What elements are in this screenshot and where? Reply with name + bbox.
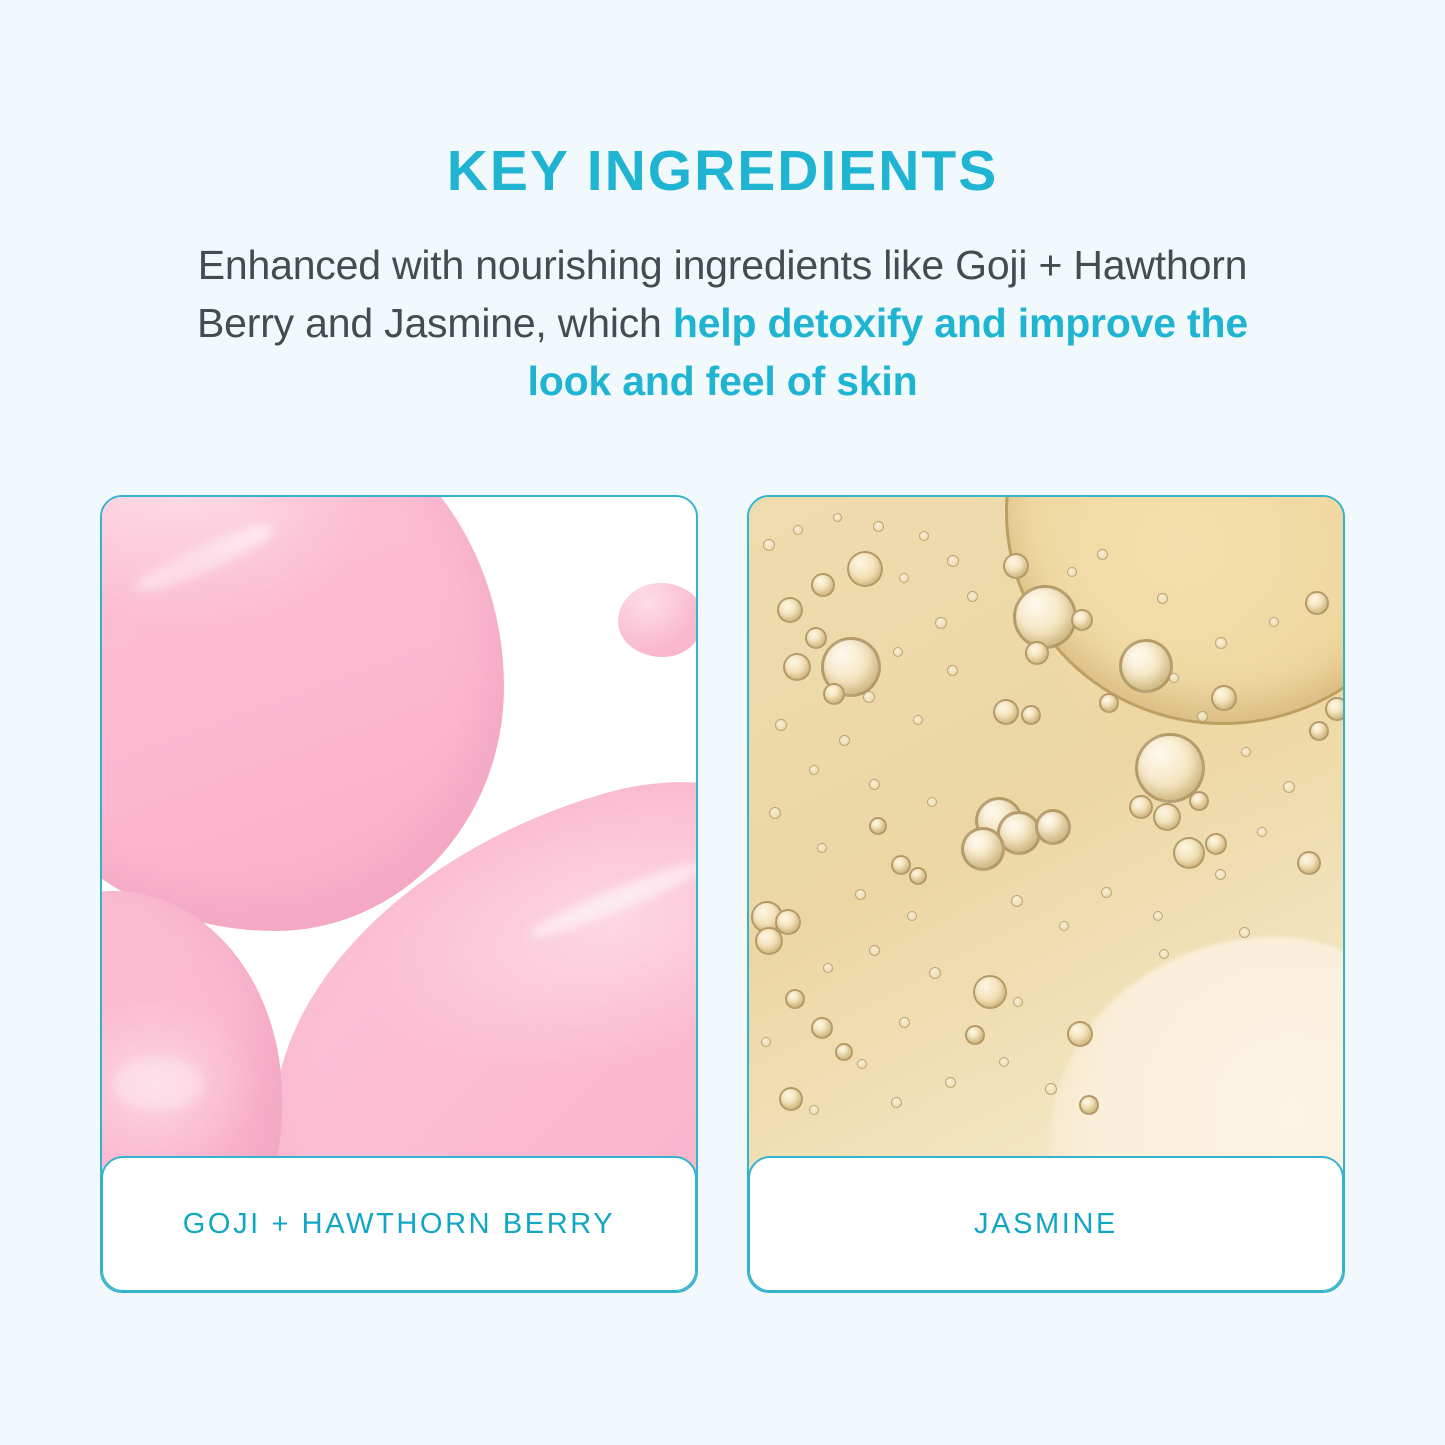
oil-bubble (769, 807, 781, 819)
oil-bubble (919, 531, 929, 541)
oil-bubble (775, 719, 787, 731)
oil-bubble (1239, 927, 1250, 938)
oil-bubble (899, 1017, 910, 1028)
oil-bubble (1159, 949, 1169, 959)
oil-bubble (847, 551, 883, 587)
oil-bubble (993, 699, 1019, 725)
oil-bubble (869, 945, 880, 956)
oil-bubble (761, 1037, 771, 1047)
oil-bubble (1129, 795, 1153, 819)
oil-bubble (1059, 921, 1069, 931)
oil-bubble (1011, 895, 1023, 907)
oil-bubble (1215, 869, 1226, 880)
oil-bubble (835, 1043, 853, 1061)
oil-bubble (857, 1059, 867, 1069)
oil-bubble (913, 715, 923, 725)
oil-bubble (823, 963, 833, 973)
oil-bubble (1099, 693, 1119, 713)
oil-bubble (1021, 705, 1041, 725)
oil-bubble (755, 927, 783, 955)
ingredient-card-jasmine[interactable]: JASMINE (747, 495, 1345, 1293)
oil-bubble (833, 513, 842, 522)
oil-bubble (999, 1057, 1009, 1067)
oil-bubble (1211, 685, 1237, 711)
oil-bubble (1241, 747, 1251, 757)
oil-bubble (1101, 887, 1112, 898)
card-label-text: JASMINE (974, 1208, 1118, 1241)
oil-bubble (1035, 809, 1071, 845)
oil-bubble (809, 1105, 819, 1115)
oil-bubble (1067, 1021, 1093, 1047)
pink-blob-small-top-right (618, 583, 696, 657)
oil-bubble (973, 975, 1007, 1009)
oil-bubble (961, 827, 1005, 871)
oil-bubble (1205, 833, 1227, 855)
pink-blob-sheen-bottom-left (112, 1057, 204, 1111)
oil-bubble (1189, 791, 1209, 811)
oil-bubble (1119, 639, 1173, 693)
ingredient-card-row: GOJI + HAWTHORN BERRY (100, 495, 1345, 1295)
oil-bubble (909, 867, 927, 885)
oil-bubble (947, 665, 958, 676)
key-ingredients-infographic: KEY INGREDIENTS Enhanced with nourishing… (0, 0, 1445, 1445)
oil-bubble (1025, 641, 1049, 665)
oil-bubble (899, 573, 909, 583)
oil-bubble (873, 521, 884, 532)
oil-bubble (1013, 585, 1077, 649)
oil-bubble (1045, 1083, 1057, 1095)
oil-bubble (1215, 637, 1227, 649)
oil-bubble (817, 843, 827, 853)
oil-bubble (1013, 997, 1023, 1007)
oil-bubble (1153, 911, 1163, 921)
ingredient-card-goji-hawthorn-berry[interactable]: GOJI + HAWTHORN BERRY (100, 495, 698, 1293)
oil-bubble (965, 1025, 985, 1045)
oil-bubble (1309, 721, 1329, 741)
card-label-text: GOJI + HAWTHORN BERRY (183, 1208, 615, 1241)
oil-bubble (809, 765, 819, 775)
oil-bubble (823, 683, 845, 705)
page-title: KEY INGREDIENTS (0, 0, 1445, 200)
oil-bubble (811, 1017, 833, 1039)
oil-bubble (1325, 697, 1343, 721)
oil-bubble (785, 989, 805, 1009)
header: KEY INGREDIENTS Enhanced with nourishing… (0, 0, 1445, 411)
oil-bubble (763, 539, 775, 551)
oil-bubble (1067, 567, 1077, 577)
oil-bubble (811, 573, 835, 597)
oil-bubble (947, 555, 959, 567)
oil-bubble (779, 1087, 803, 1111)
oil-bubble (1097, 549, 1108, 560)
oil-bubble (793, 525, 803, 535)
oil-bubble (863, 691, 875, 703)
oil-bubble (929, 967, 941, 979)
pink-blob-speckle-band (102, 497, 262, 657)
card-label-plate-jasmine: JASMINE (748, 1156, 1344, 1292)
oil-bubble (1197, 711, 1208, 722)
oil-bubble (1157, 593, 1168, 604)
oil-bubble (1257, 827, 1267, 837)
oil-bubble (783, 653, 811, 681)
oil-bubble (1283, 781, 1295, 793)
oil-bubble (967, 591, 978, 602)
oil-bubble (1297, 851, 1321, 875)
oil-bubble (777, 597, 803, 623)
oil-bubble (1003, 553, 1029, 579)
oil-bubble (869, 817, 887, 835)
oil-bubble (805, 627, 827, 649)
oil-bubble (935, 617, 947, 629)
oil-bubble (927, 797, 937, 807)
oil-bubble (1173, 837, 1205, 869)
oil-bubble (907, 911, 917, 921)
oil-bubble (1079, 1095, 1099, 1115)
subtitle: Enhanced with nourishing ingredients lik… (180, 200, 1265, 411)
oil-bubble (1269, 617, 1279, 627)
oil-bubble (1305, 591, 1329, 615)
card-label-plate-goji-hawthorn-berry: GOJI + HAWTHORN BERRY (101, 1156, 697, 1292)
oil-bubble (891, 855, 911, 875)
oil-bubble (855, 889, 866, 900)
oil-bubble (1169, 673, 1179, 683)
oil-bubble (1153, 803, 1181, 831)
oil-bubble (945, 1077, 956, 1088)
oil-bubble (893, 647, 903, 657)
oil-bubble (839, 735, 850, 746)
oil-bubble (869, 779, 880, 790)
oil-bubble (1071, 609, 1093, 631)
oil-bubble (891, 1097, 902, 1108)
